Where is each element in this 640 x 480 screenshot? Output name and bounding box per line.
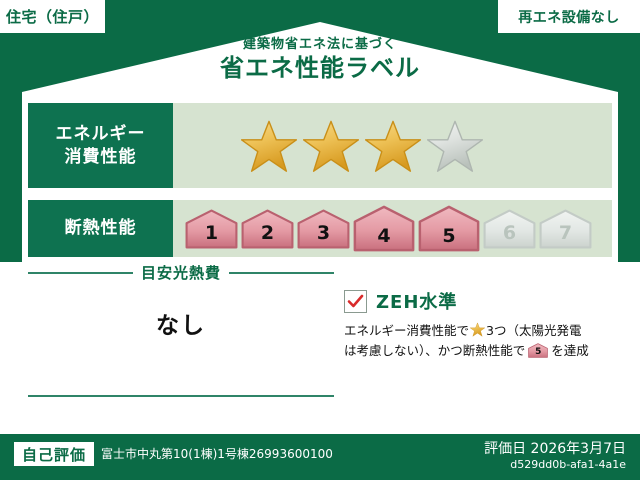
energy-consumption-label: エネルギー 消費性能 (28, 103, 173, 188)
insulation-grade-7: 7 (539, 209, 592, 249)
insulation-grade-number: 4 (377, 225, 390, 252)
insulation-grade-number: 3 (317, 222, 330, 249)
estimated-utility-cost-title: 目安光熱費 (141, 262, 221, 283)
tag-housing-type: 住宅（住戸） (0, 0, 105, 33)
zeh-desc-star-count: 3つ（太陽光発電 (486, 323, 581, 338)
title-main: 省エネ性能ラベル (0, 55, 640, 81)
estimated-utility-cost-heading: 目安光熱費 (28, 262, 334, 283)
evaluation-date: 評価日 2026年3月7日 (484, 438, 626, 458)
zeh-description: エネルギー消費性能で3つ（太陽光発電 は考慮しない）、かつ断熱性能で5を達成 (344, 321, 618, 362)
tag-renewable-equipment: 再エネ設備なし (498, 0, 640, 33)
self-evaluation-badge: 自己評価 (14, 442, 94, 466)
zeh-title: ZEH水準 (376, 288, 457, 314)
zeh-standard-block: ZEH水準 エネルギー消費性能で3つ（太陽光発電 は考慮しない）、かつ断熱性能で… (344, 288, 618, 362)
energy-consumption-row: エネルギー 消費性能 (28, 103, 612, 188)
star-rating (241, 118, 483, 174)
grade-badge-icon: 5 (528, 343, 548, 358)
star-icon-filled (365, 118, 421, 174)
insulation-grade-number: 2 (261, 222, 274, 249)
star-icon-filled (303, 118, 359, 174)
property-address: 富士市中丸第10(1棟)1号棟26993600100 (101, 445, 333, 462)
insulation-grade-number: 5 (442, 225, 455, 252)
star-icon-filled (241, 118, 297, 174)
zeh-header: ZEH水準 (344, 288, 618, 314)
insulation-performance-value: 1234567 (173, 200, 612, 257)
heading-rule-left (28, 272, 133, 274)
footer-bar: 自己評価 富士市中丸第10(1棟)1号棟26993600100 評価日 2026… (0, 434, 640, 480)
lower-panel: 目安光熱費 なし ZEH水準 エネルギー消費性能で3つ（太陽光発電 は考慮しない… (0, 262, 640, 434)
title-subtitle: 建築物省エネ法に基づく (0, 38, 640, 52)
insulation-grade-number: 1 (205, 222, 218, 249)
energy-performance-label: 住宅（住戸） 再エネ設備なし 建築物省エネ法に基づく 省エネ性能ラベル エネルギ… (0, 0, 640, 480)
insulation-grade-4: 4 (353, 205, 415, 252)
energy-consumption-value (173, 103, 612, 188)
star-icon-empty (427, 118, 483, 174)
evaluation-id: d529dd0b-afa1-4a1e (510, 458, 626, 471)
cost-bottom-rule (28, 395, 334, 397)
insulation-grade-6: 6 (483, 209, 536, 249)
energy-label-line1: エネルギー (56, 123, 146, 146)
insulation-label-text: 断熱性能 (65, 217, 137, 240)
insulation-grade-5: 5 (418, 205, 480, 252)
insulation-grade-scale: 1234567 (185, 205, 592, 252)
estimated-utility-cost-value: なし (28, 306, 334, 340)
heading-rule-right (229, 272, 334, 274)
star-icon (470, 322, 485, 337)
energy-label-line2: 消費性能 (65, 146, 137, 169)
insulation-grade-number: 7 (559, 222, 572, 249)
zeh-desc-part3: を達成 (551, 343, 589, 358)
insulation-performance-label: 断熱性能 (28, 200, 173, 257)
insulation-performance-row: 断熱性能 1234567 (28, 200, 612, 257)
insulation-grade-2: 2 (241, 209, 294, 249)
zeh-desc-part2: は考慮しない）、かつ断熱性能で (344, 343, 525, 358)
checkbox-zeh[interactable] (344, 290, 367, 313)
page-title: 建築物省エネ法に基づく 省エネ性能ラベル (0, 38, 640, 82)
inline-grade-number: 5 (528, 343, 548, 358)
zeh-desc-part1: エネルギー消費性能で (344, 323, 469, 338)
insulation-grade-1: 1 (185, 209, 238, 249)
insulation-grade-number: 6 (503, 222, 516, 249)
check-icon (347, 293, 364, 310)
insulation-grade-3: 3 (297, 209, 350, 249)
